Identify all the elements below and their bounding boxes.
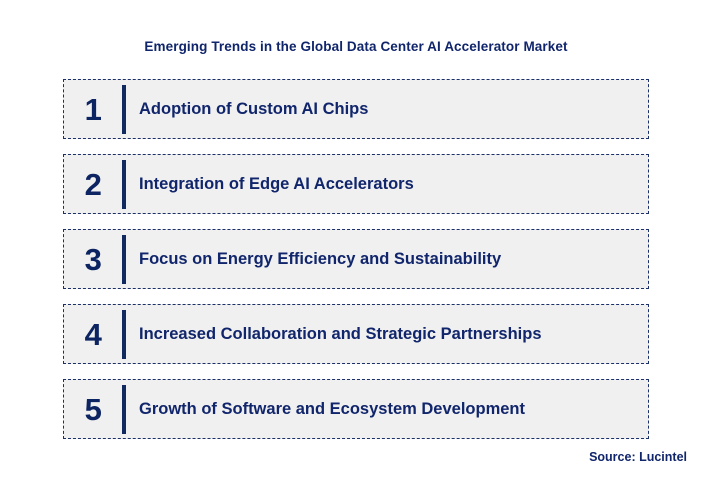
trend-list: 1 Adoption of Custom AI Chips 2 Integrat… bbox=[63, 79, 649, 439]
trend-number: 5 bbox=[64, 394, 122, 425]
trend-row[interactable]: 4 Increased Collaboration and Strategic … bbox=[63, 304, 649, 364]
trend-number: 1 bbox=[64, 94, 122, 125]
trend-label: Growth of Software and Ecosystem Develop… bbox=[126, 400, 525, 419]
trend-label: Increased Collaboration and Strategic Pa… bbox=[126, 325, 542, 344]
trend-number: 2 bbox=[64, 169, 122, 200]
trend-row[interactable]: 1 Adoption of Custom AI Chips bbox=[63, 79, 649, 139]
trend-row[interactable]: 3 Focus on Energy Efficiency and Sustain… bbox=[63, 229, 649, 289]
trend-number: 4 bbox=[64, 319, 122, 350]
trend-row[interactable]: 2 Integration of Edge AI Accelerators bbox=[63, 154, 649, 214]
trend-row[interactable]: 5 Growth of Software and Ecosystem Devel… bbox=[63, 379, 649, 439]
page-title: Emerging Trends in the Global Data Cente… bbox=[0, 0, 712, 55]
infographic-page: Emerging Trends in the Global Data Cente… bbox=[0, 0, 712, 501]
trend-number: 3 bbox=[64, 244, 122, 275]
source-attribution: Source: Lucintel bbox=[0, 450, 687, 464]
trend-label: Integration of Edge AI Accelerators bbox=[126, 175, 414, 194]
trend-label: Adoption of Custom AI Chips bbox=[126, 100, 368, 119]
trend-label: Focus on Energy Efficiency and Sustainab… bbox=[126, 250, 501, 269]
